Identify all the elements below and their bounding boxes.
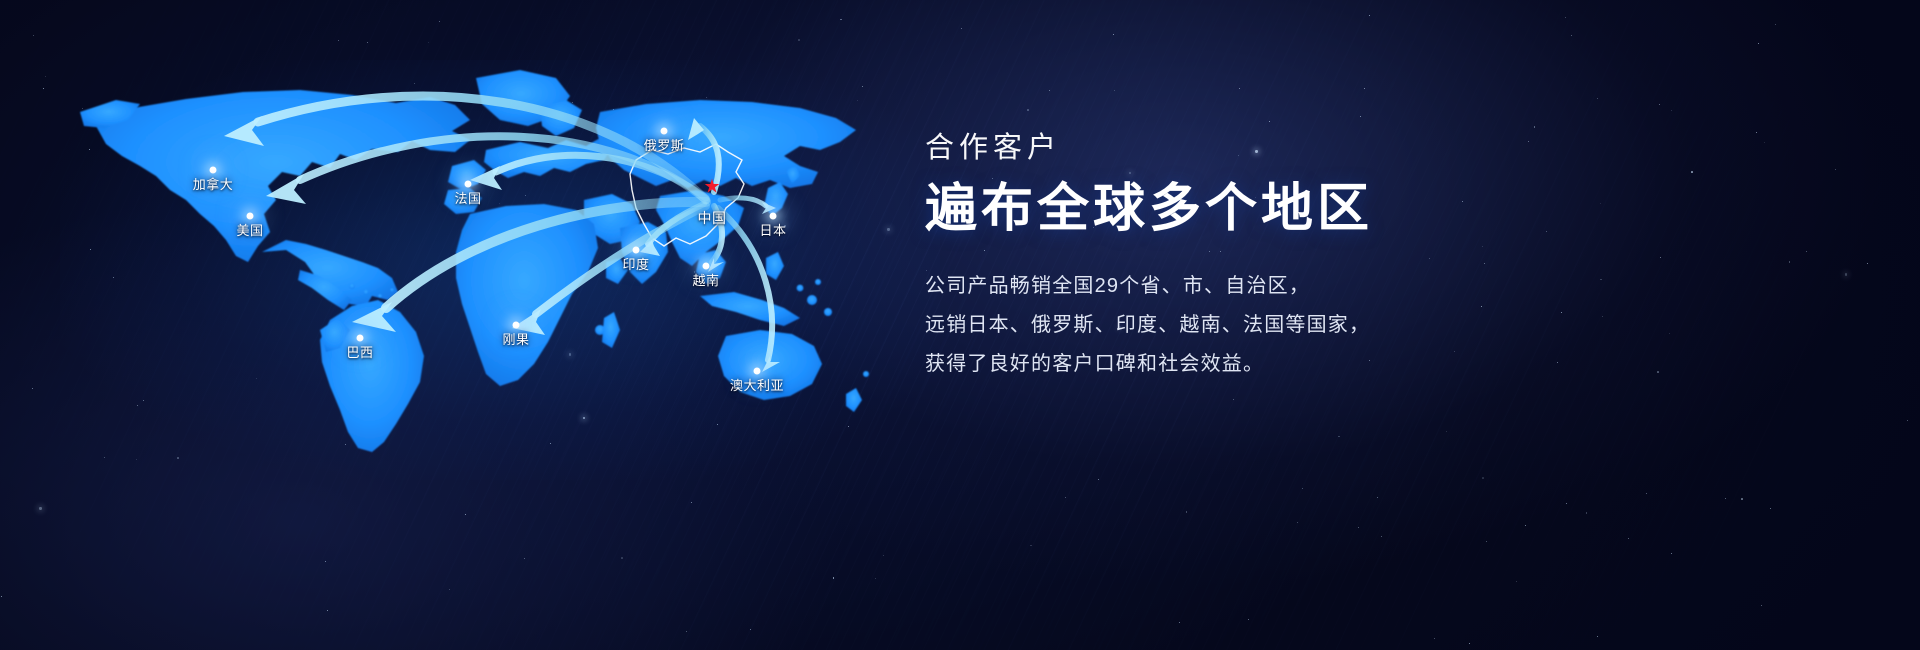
map-label-俄罗斯: 俄罗斯 <box>644 138 685 153</box>
map-marker-dot[interactable] <box>754 368 761 375</box>
map-label-日本: 日本 <box>759 223 786 238</box>
map-marker-dot[interactable] <box>633 247 640 254</box>
map-label-美国: 美国 <box>236 223 263 238</box>
map-label-刚果: 刚果 <box>502 332 529 347</box>
map-marker-dot[interactable] <box>357 335 364 342</box>
page-title: 遍布全球多个地区 <box>925 179 1825 239</box>
map-marker-dot[interactable] <box>210 167 217 174</box>
map-marker-dot[interactable] <box>513 322 520 329</box>
map-label-加拿大: 加拿大 <box>193 177 234 192</box>
description-line-1: 公司产品畅销全国29个省、市、自治区， <box>925 267 1825 306</box>
origin-star-icon: ★ <box>703 178 720 197</box>
description-line-3: 获得了良好的客户口碑和社会效益。 <box>925 345 1825 384</box>
map-marker-dot[interactable] <box>661 128 668 135</box>
map-label-中国: 中国 <box>698 211 727 226</box>
map-marker-dot[interactable] <box>703 263 710 270</box>
map-label-越南: 越南 <box>692 273 719 288</box>
banner-copy: 合作客户 遍布全球多个地区 公司产品畅销全国29个省、市、自治区，远销日本、俄罗… <box>925 131 1825 384</box>
map-label-澳大利亚: 澳大利亚 <box>730 378 784 393</box>
eyebrow-text: 合作客户 <box>925 131 1825 165</box>
landmasses <box>80 70 869 452</box>
map-marker-dot[interactable] <box>465 181 472 188</box>
map-marker-dot[interactable] <box>247 213 254 220</box>
world-map-banner: ★中国加拿大美国巴西法国俄罗斯印度刚果越南日本澳大利亚 合作客户 遍布全球多个地… <box>0 0 1920 650</box>
map-marker-dot[interactable] <box>770 213 777 220</box>
description-block: 公司产品畅销全国29个省、市、自治区，远销日本、俄罗斯、印度、越南、法国等国家，… <box>925 267 1825 384</box>
map-label-巴西: 巴西 <box>346 345 373 360</box>
map-label-法国: 法国 <box>454 191 481 206</box>
description-line-2: 远销日本、俄罗斯、印度、越南、法国等国家， <box>925 306 1825 345</box>
map-label-印度: 印度 <box>622 257 649 272</box>
